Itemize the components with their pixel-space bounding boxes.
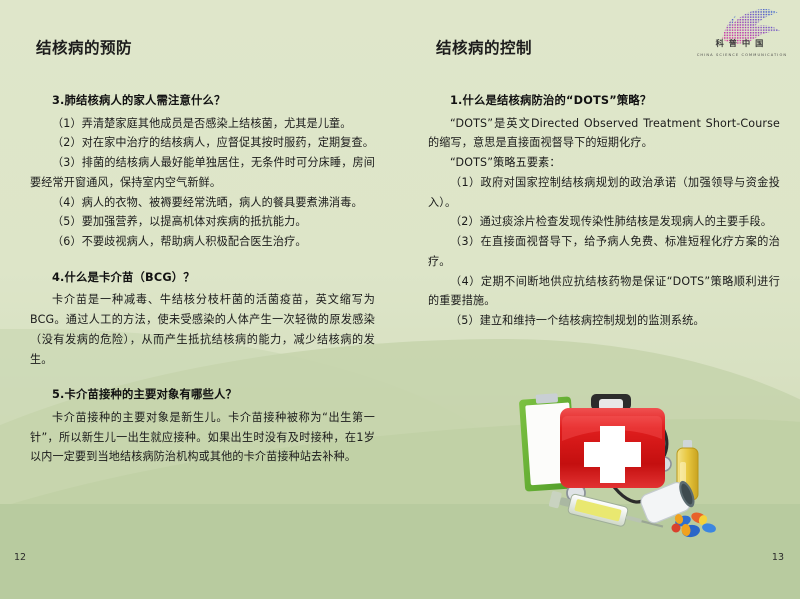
logo-chinese-text: 科普中国 <box>716 37 769 49</box>
right-page-body: 1.什么是结核病防治的“DOTS”策略？ “DOTS”是英文Directed O… <box>428 92 780 331</box>
paragraph: 卡介苗接种的主要对象是新生儿。卡介苗接种被称为“出生第一针”，所以新生儿一出生就… <box>30 408 375 467</box>
page-title-right: 结核病的控制 <box>436 36 532 58</box>
paragraph: （4）定期不间断地供应抗结核药物是保证“DOTS”策略顺利进行的重要措施。 <box>428 272 780 311</box>
pills-icon <box>672 510 717 538</box>
kit-handle-icon <box>591 394 631 410</box>
page-title-left: 结核病的预防 <box>36 36 132 58</box>
paragraph: （2）通过痰涂片检查发现传染性肺结核是发现病人的主要手段。 <box>428 212 780 232</box>
left-page-body: 3.肺结核病人的家人需注意什么？ （1）弄清楚家庭其他成员是否感染上结核菌，尤其… <box>30 92 375 467</box>
paragraph: （1）政府对国家控制结核病规划的政治承诺（加强领导与资金投入）。 <box>428 173 780 212</box>
paragraph: （4）病人的衣物、被褥要经常洗晒，病人的餐具要煮沸消毒。 <box>30 193 375 213</box>
paragraph: （6）不要歧视病人，帮助病人积极配合医生治疗。 <box>30 232 375 252</box>
medical-supplies-illustration <box>487 392 787 557</box>
paragraph: （1）弄清楚家庭其他成员是否感染上结核菌，尤其是儿童。 <box>30 114 375 134</box>
presentation-slide: 结核病的预防 3.肺结核病人的家人需注意什么？ （1）弄清楚家庭其他成员是否感染… <box>0 0 800 599</box>
paragraph: （5）建立和维持一个结核病控制规划的监测系统。 <box>428 311 780 331</box>
page-number-left: 12 <box>14 552 26 563</box>
paragraph: （3）在直接面视督导下，给予病人免费、标准短程化疗方案的治疗。 <box>428 232 780 271</box>
paragraph: （2）对在家中治疗的结核病人，应督促其按时服药，定期复查。 <box>30 133 375 153</box>
question-heading-5: 5.卡介苗接种的主要对象有哪些人？ <box>30 386 375 405</box>
question-heading-3: 3.肺结核病人的家人需注意什么？ <box>30 92 375 111</box>
logo-english-text: CHINA SCIENCE COMMUNICATION <box>697 53 787 57</box>
logo: 科普中国 CHINA SCIENCE COMMUNICATION <box>698 6 786 58</box>
question-heading-4: 4.什么是卡介苗（BCG）？ <box>30 269 375 288</box>
question-heading-1: 1.什么是结核病防治的“DOTS”策略？ <box>428 92 780 111</box>
left-page: 结核病的预防 3.肺结核病人的家人需注意什么？ （1）弄清楚家庭其他成员是否感染… <box>0 0 400 599</box>
paragraph: （5）要加强营养，以提高机体对疾病的抵抗能力。 <box>30 212 375 232</box>
paragraph: “DOTS”策略五要素： <box>428 153 780 173</box>
paragraph: （3）排菌的结核病人最好能单独居住，无条件时可分床睡，房间要经常开窗通风，保持室… <box>30 153 375 192</box>
first-aid-kit-icon <box>560 408 665 488</box>
paragraph: “DOTS”是英文Directed Observed Treatment Sho… <box>428 114 780 153</box>
paragraph: 卡介苗是一种减毒、牛结核分枝杆菌的活菌疫苗，英文缩写为BCG。通过人工的方法，使… <box>30 290 375 369</box>
